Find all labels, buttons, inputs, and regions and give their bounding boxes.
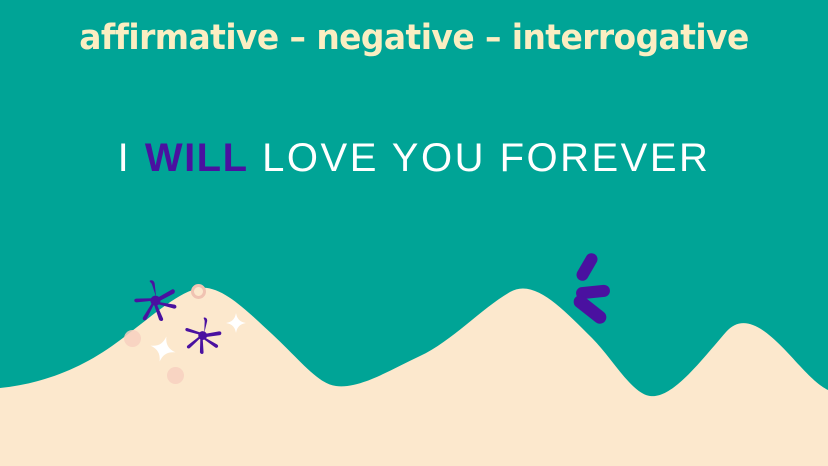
example-sentence: I WILL LOVE YOU FOREVER (0, 136, 828, 181)
slide-canvas: affirmative – negative – interrogative I… (0, 0, 828, 466)
sentence-part-3: LOVE YOU FOREVER (249, 136, 711, 180)
cream-wave-shape (0, 266, 828, 466)
sentence-part-1: I (118, 136, 145, 180)
sentence-highlight-will: WILL (145, 136, 249, 180)
page-title: affirmative – negative – interrogative (25, 18, 803, 58)
